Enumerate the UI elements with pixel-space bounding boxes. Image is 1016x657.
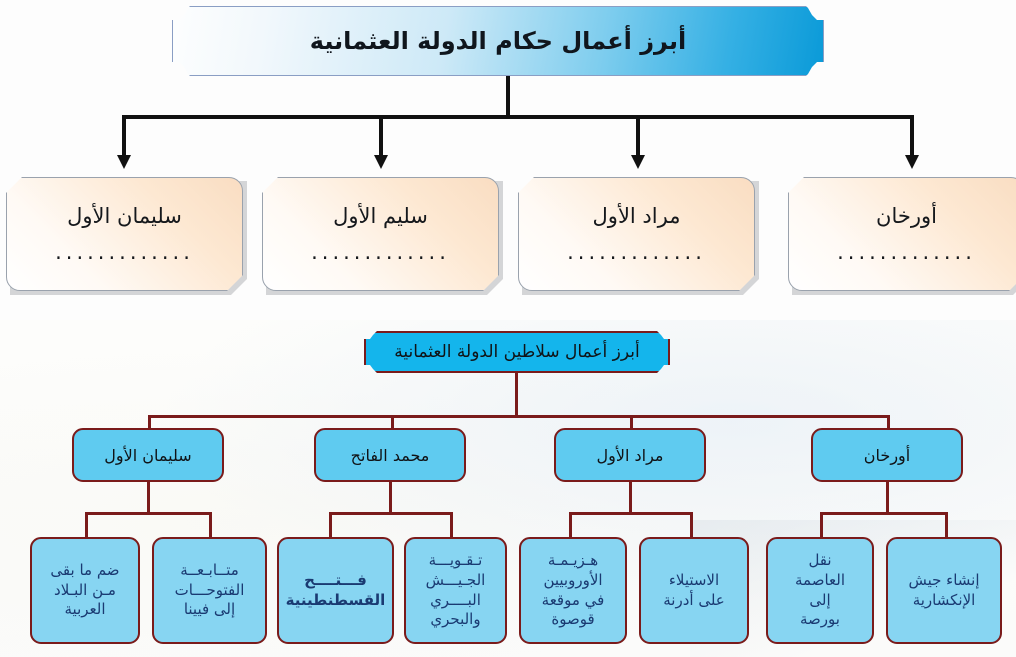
achievement-box-5[interactable]: هـزيـمـة الأوروبيين في موقعة قوصوة xyxy=(519,537,627,644)
sultan-name-4: أورخان xyxy=(864,446,910,465)
top-box-selim-i[interactable]: سليم الأول ............. xyxy=(262,177,499,291)
achievement-box-4[interactable]: تـقـويـــة الجـيـــش البــــري والبحري xyxy=(404,537,507,644)
top-box-name-2: سليم الأول xyxy=(333,204,428,228)
branch-drop-4a xyxy=(820,512,823,539)
sultan-box-mehmed-the-conqueror[interactable]: محمد الفاتح xyxy=(314,428,466,482)
top-box-suleiman-i[interactable]: سليمان الأول ............. xyxy=(6,177,243,291)
branch-bar-4 xyxy=(820,512,948,515)
sultan-name-1: سليمان الأول xyxy=(104,446,191,465)
top-box-dots-1: ............. xyxy=(55,240,194,264)
top-box-name-1: سليمان الأول xyxy=(67,204,182,228)
achievement-text-5: هـزيـمـة الأوروبيين في موقعة قوصوة xyxy=(525,551,621,631)
achievement-text-3: فـــتــــح القسطنطينية xyxy=(283,571,388,611)
bottom-diagram-title: أبرز أعمال سلاطين الدولة العثمانية xyxy=(394,342,639,362)
achievement-text-1: ضم ما بقى مـن البـلاد العربية xyxy=(36,561,134,621)
achievement-text-8: إنشاء جيش الإنكشارية xyxy=(892,571,996,611)
sultan-box-orhan[interactable]: أورخان xyxy=(811,428,963,482)
branch-stem-4 xyxy=(886,482,889,514)
top-box-dots-2: ............. xyxy=(311,240,450,264)
top-box-murad-i[interactable]: مراد الأول ............. xyxy=(518,177,755,291)
branch-drop-3a xyxy=(569,512,572,539)
branch-drop-2b xyxy=(450,512,453,539)
top-connector-drop-4 xyxy=(910,115,914,157)
top-box-dots-4: ............. xyxy=(837,240,976,264)
top-connector-stem xyxy=(506,76,510,118)
branch-stem-3 xyxy=(629,482,632,514)
bottom-connector-bus xyxy=(148,415,890,418)
sultan-box-murad-i[interactable]: مراد الأول xyxy=(554,428,706,482)
top-arrow-icon-3 xyxy=(631,155,645,169)
top-arrow-icon-1 xyxy=(117,155,131,169)
achievement-box-3[interactable]: فـــتــــح القسطنطينية xyxy=(277,537,394,644)
top-connector-drop-3 xyxy=(636,115,640,157)
branch-drop-1a xyxy=(85,512,88,539)
branch-drop-4b xyxy=(945,512,948,539)
top-arrow-icon-4 xyxy=(905,155,919,169)
diagram-page: أبرز أعمال حكام الدولة العثمانية سليمان … xyxy=(0,0,1016,657)
branch-drop-1b xyxy=(209,512,212,539)
top-box-dots-3: ............. xyxy=(567,240,706,264)
branch-bar-3 xyxy=(569,512,693,515)
achievement-box-6[interactable]: الاستيلاء على أدرنة xyxy=(639,537,749,644)
top-diagram-title-banner: أبرز أعمال حكام الدولة العثمانية xyxy=(172,6,824,76)
branch-bar-2 xyxy=(329,512,453,515)
achievement-text-2: متــابـعــة الفتوحـــات إلى فيينا xyxy=(158,561,261,621)
top-box-orhan[interactable]: أورخان ............. xyxy=(788,177,1016,291)
achievement-box-7[interactable]: نقل العاصمة إلى بورصة xyxy=(766,537,874,644)
branch-stem-1 xyxy=(147,482,150,514)
achievement-box-2[interactable]: متــابـعــة الفتوحـــات إلى فيينا xyxy=(152,537,267,644)
sultan-box-suleiman-i[interactable]: سليمان الأول xyxy=(72,428,224,482)
top-box-name-4: أورخان xyxy=(876,204,937,228)
achievement-text-4: تـقـويـــة الجـيـــش البــــري والبحري xyxy=(410,551,501,631)
branch-bar-1 xyxy=(85,512,212,515)
achievement-box-8[interactable]: إنشاء جيش الإنكشارية xyxy=(886,537,1002,644)
top-connector-bus xyxy=(122,115,914,119)
top-diagram-title: أبرز أعمال حكام الدولة العثمانية xyxy=(310,27,686,55)
sultan-name-2: محمد الفاتح xyxy=(351,446,430,465)
top-connector-drop-2 xyxy=(379,115,383,157)
branch-drop-2a xyxy=(329,512,332,539)
branch-stem-2 xyxy=(389,482,392,514)
sultan-name-3: مراد الأول xyxy=(597,446,664,465)
bottom-connector-stem xyxy=(515,373,518,417)
top-connector-drop-1 xyxy=(122,115,126,157)
top-box-name-3: مراد الأول xyxy=(593,204,681,228)
achievement-box-1[interactable]: ضم ما بقى مـن البـلاد العربية xyxy=(30,537,140,644)
achievement-text-6: الاستيلاء على أدرنة xyxy=(645,571,743,611)
branch-drop-3b xyxy=(690,512,693,539)
top-arrow-icon-2 xyxy=(374,155,388,169)
achievement-text-7: نقل العاصمة إلى بورصة xyxy=(772,551,868,631)
bottom-diagram-title-banner: أبرز أعمال سلاطين الدولة العثمانية xyxy=(364,331,670,373)
